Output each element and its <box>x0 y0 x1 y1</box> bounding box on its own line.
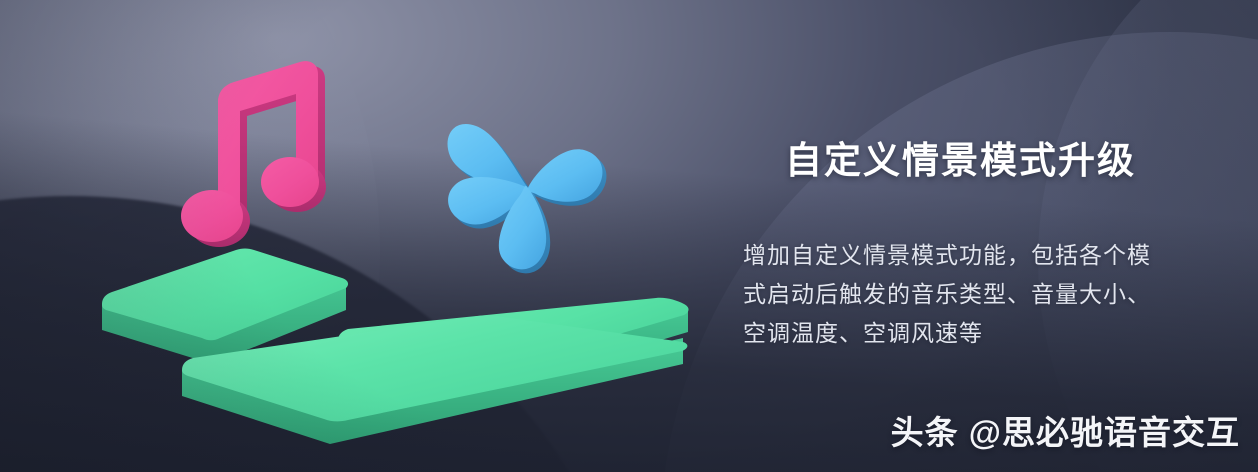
description-line: 增加自定义情景模式功能，包括各个模 <box>743 236 1171 275</box>
description-line: 式启动后触发的音乐类型、音量大小、 <box>743 275 1171 314</box>
text-block: 自定义情景模式升级 增加自定义情景模式功能，包括各个模 式启动后触发的音乐类型、… <box>741 138 1171 353</box>
description-line: 空调温度、空调风速等 <box>743 314 1171 353</box>
banner-description: 增加自定义情景模式功能，包括各个模 式启动后触发的音乐类型、音量大小、 空调温度… <box>743 236 1171 353</box>
fan-icon <box>440 100 620 290</box>
promo-banner: 自定义情景模式升级 增加自定义情景模式功能，包括各个模 式启动后触发的音乐类型、… <box>0 0 1258 472</box>
banner-title: 自定义情景模式升级 <box>785 138 1171 184</box>
watermark: 头条 @思必驰语音交互 <box>891 406 1240 454</box>
music-note-icon <box>168 44 338 260</box>
platform-slab-front <box>178 314 698 464</box>
